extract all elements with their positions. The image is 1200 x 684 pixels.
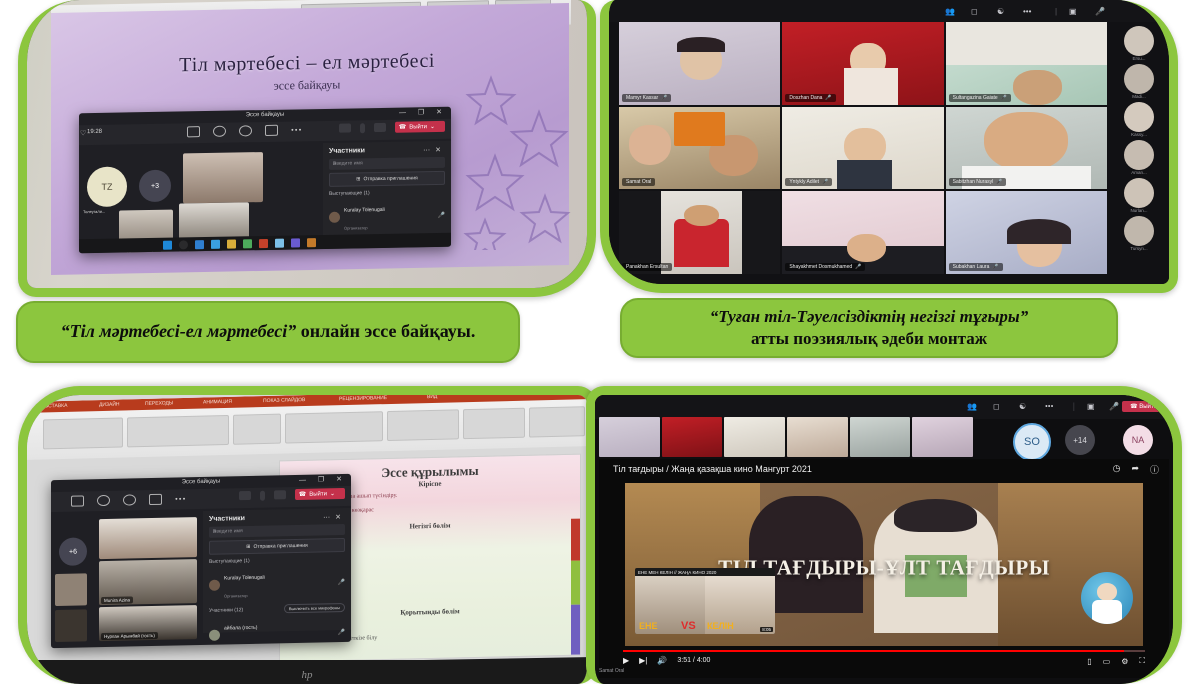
tile-name: Sultangazina Gaiate🎤 [949, 94, 1011, 102]
youtube-video-title: Тіл тағдыры / Жаңа қазақша кино Мангурт … [613, 464, 812, 474]
more-icon[interactable]: ••• [291, 125, 302, 134]
overflow-badge[interactable]: +3 [139, 170, 171, 203]
photo-youtube-film-share: 👥 ◻ ☯ ••• | ▣ 🎤 ▣ ☎ Выйти [586, 386, 1182, 684]
mic-icon: 🎤 [996, 179, 1002, 185]
tile-name: Sabitzhan Nurasyl🎤 [949, 178, 1007, 186]
teams-toolbar-icons[interactable]: ••• [187, 124, 302, 137]
heart-icon: ♡ [80, 129, 86, 137]
mic-icon[interactable]: 🎤 [438, 211, 445, 218]
share-icon[interactable] [274, 490, 286, 499]
mic-icon[interactable]: 🎤 [1095, 7, 1105, 16]
send-invitation-button[interactable]: ⊞ Отправка приглашения [329, 171, 445, 187]
thumbnail-caption: ЕНЕ МЕН КЕЛІН // ЖАҢА КИНО 2020 [638, 570, 716, 575]
mic-icon[interactable] [260, 490, 265, 500]
app-icon[interactable] [259, 238, 268, 247]
subtitles-icon[interactable]: ▯ [1087, 657, 1091, 666]
tile-name: Mamyr Kassar🎤 [622, 94, 671, 102]
section-participants: Участники (12) [209, 607, 243, 614]
tile-name: Doszhan Dana🎤 [785, 94, 835, 102]
hangup-button[interactable]: ☎ Выйти ⌄ [295, 488, 345, 500]
participant-role: Организатор [344, 225, 368, 230]
avatar[interactable] [1124, 216, 1154, 246]
corner-participant-name: Samat Oral [599, 668, 624, 674]
video-tile[interactable]: Shayakhmet Dosmukhamed🎤 [782, 191, 943, 274]
hangup-label: Выйти [1139, 404, 1157, 410]
send-invitation-button[interactable]: ⊞ Отправка приглашения [209, 538, 345, 555]
mic-icon: 🎤 [855, 264, 861, 270]
mic-icon[interactable] [360, 123, 365, 133]
video-tile[interactable] [55, 573, 87, 606]
video-tile[interactable] [850, 417, 911, 457]
invite-icon: ⊞ [246, 544, 250, 550]
more-icon[interactable]: ••• [1045, 402, 1053, 411]
suggested-video-thumbnail[interactable]: ЕНЕ МЕН КЕЛІН // ЖАҢА КИНО 2020 ЕНЕ VS К… [635, 568, 775, 634]
thumbnail-title-a: ЕНЕ [639, 621, 658, 631]
photo-essay-structure-laptop: ВСТАВКА ДИЗАЙН ПЕРЕХОДЫ АНИМАЦИЯ ПОКАЗ С… [18, 386, 596, 684]
settings-icon[interactable]: ⚙ [1121, 657, 1128, 666]
share-screen-icon[interactable] [265, 125, 278, 136]
search-icon[interactable]: ⌕ [333, 159, 441, 168]
caption-essay-contest: “Тіл мәртебесі-ел мәртебесі” онлайн эссе… [16, 301, 520, 363]
miniplayer-icon[interactable]: ▭ [1103, 657, 1111, 666]
ribbon-tab[interactable]: РЕЦЕНЗИРОВАНИЕ [339, 395, 387, 402]
video-grid: Mamyr Kassar🎤 Doszhan Dana🎤 Sultangazina… [619, 22, 1107, 274]
teams-call-controls[interactable]: ☎ Выйти ⌄ [239, 488, 345, 501]
search-icon[interactable] [179, 240, 188, 249]
time-display: 3:51 / 4:00 [677, 657, 710, 664]
hangup-button[interactable]: ☎ Выйти ⌄ [395, 121, 445, 133]
window-controls[interactable]: — ❐ ✕ [299, 475, 347, 484]
participant-name: Kuralay Tolenugali [344, 207, 385, 214]
folder-icon[interactable] [227, 239, 236, 248]
video-tile[interactable] [787, 417, 848, 457]
tile-name: Shayakhmet Dosmukhamed🎤 [785, 263, 865, 271]
photo-poetry-montage-grid: 👥 ◻ ☯ ••• | ▣ 🎤 Mamyr Kassar🎤 Doszhan Da… [600, 0, 1178, 293]
react-icon[interactable] [239, 125, 252, 136]
react-icon[interactable]: ☯ [1019, 402, 1026, 411]
people-icon[interactable] [187, 126, 200, 137]
video-tile[interactable] [662, 417, 723, 457]
participant-search-input[interactable]: Введите имя ⌕ [329, 157, 445, 170]
avatar-name: Толеугали... [83, 209, 105, 214]
photo-essay-contest-projector: Тіл мәртебесі – ел мәртебесі эссе байқау… [18, 0, 596, 297]
tile-name: Yntykly Adilet🎤 [785, 178, 832, 186]
ribbon-tab[interactable]: ВСТАВКА [45, 403, 67, 410]
tile-name: Munira Azina [101, 596, 133, 604]
search-icon[interactable]: ⌕ [213, 526, 341, 536]
start-icon[interactable] [163, 240, 172, 249]
tile-name: Panakhan Ersultan [622, 263, 672, 271]
tile-name: Нурлан Арымбай (гость) [101, 632, 158, 640]
people-icon[interactable] [71, 495, 84, 506]
hangup-label: Выйти [309, 491, 327, 497]
ribbon-tab[interactable]: АНИМАЦИЯ [203, 399, 232, 406]
chat-icon[interactable]: ◻ [993, 402, 1000, 411]
overflow-badge[interactable]: +6 [59, 537, 87, 566]
watch-later-icon[interactable]: ◷ [1113, 463, 1121, 476]
mic-icon: 🎤 [822, 179, 828, 185]
more-icon[interactable]: ••• [1023, 7, 1031, 16]
progress-fill [623, 650, 1124, 652]
invite-icon: ⊞ [356, 176, 360, 182]
rail-name: Nurlan... [1113, 208, 1165, 213]
fullscreen-icon[interactable]: ⛶ [1139, 656, 1145, 666]
app-icon[interactable] [291, 238, 300, 247]
caption-poetry-montage: “Туған тіл-Тәуелсіздіктің негізгі тұғыры… [620, 298, 1118, 358]
rail-name: Kassy... [1113, 132, 1165, 137]
mic-icon: 🎤 [825, 95, 831, 101]
app-icon[interactable] [195, 240, 204, 249]
progress-bar[interactable] [623, 650, 1145, 652]
chat-icon[interactable] [97, 495, 110, 506]
app-icon[interactable] [275, 238, 284, 247]
volume-icon[interactable]: 🔊 [657, 656, 667, 665]
panel-close-icon[interactable]: ⋯✕ [423, 146, 446, 154]
ribbon-tab[interactable]: ВИД [427, 395, 437, 400]
teams-topbar[interactable]: 👥 ◻ ☯ ••• | ▣ 🎤 ▣ ☎ Выйти [595, 395, 1173, 419]
chat-icon[interactable]: ◻ [971, 7, 978, 16]
avatar[interactable]: NA [1123, 425, 1153, 455]
share-icon[interactable]: ➦ [1131, 463, 1139, 476]
overflow-count: +14 [1073, 436, 1087, 445]
camera-icon[interactable]: ▣ [1087, 402, 1095, 411]
caption-quote: “Туған тіл-Тәуелсіздіктің негізгі тұғыры… [710, 307, 1028, 326]
mic-icon: 🎤 [661, 95, 667, 101]
avatar [329, 211, 340, 222]
avatar[interactable] [1124, 140, 1154, 170]
mic-off-icon[interactable]: 🎤 [1109, 402, 1119, 411]
participant-row[interactable]: Kuralay Tolenugali Организатор 🎤 [209, 564, 345, 603]
participant-name: Kuralay Tolenugali [224, 575, 265, 582]
phone-icon: ☎ [1130, 404, 1139, 410]
mic-icon[interactable]: 🎤 [338, 578, 345, 585]
chat-icon[interactable] [213, 126, 226, 137]
camera-icon[interactable] [339, 124, 351, 133]
video-tile[interactable]: Doszhan Dana🎤 [782, 22, 943, 105]
window-controls[interactable]: — ❐ ✕ [399, 108, 447, 117]
people-icon[interactable]: 👥 [967, 402, 977, 411]
ribbon-tab[interactable]: ПЕРЕХОДЫ [145, 400, 173, 407]
rail-name: Aman... [1113, 170, 1165, 175]
video-tile[interactable]: Munira Azina [99, 559, 197, 605]
video-tile[interactable] [912, 417, 973, 457]
avatar-initials: NA [1132, 435, 1145, 445]
avatar [209, 579, 220, 590]
participant-search-input[interactable]: Введите имя ⌕ [209, 524, 345, 538]
meeting-timer: 19:28 [87, 129, 102, 135]
rail-name: Ersu... [1113, 56, 1165, 61]
avatar: TZ [87, 166, 127, 207]
avatar[interactable] [1124, 178, 1154, 208]
teams-call-controls[interactable]: ☎ Выйти ⌄ [339, 121, 445, 134]
avatar[interactable] [1124, 64, 1154, 94]
invite-label: Отправка приглашения [363, 175, 417, 182]
video-tile[interactable]: Нурлан Арымбай (гость) [99, 605, 197, 641]
panel-close-icon[interactable]: ⋯✕ [323, 513, 346, 521]
react-icon[interactable] [123, 494, 136, 505]
video-tile[interactable] [599, 417, 660, 457]
video-frame[interactable]: ТІЛ ТАҒДЫРЫ-ҰЛТ ТАҒДЫРЫ ЕНЕ МЕН КЕЛІН //… [625, 483, 1143, 646]
caption-rest: атты поэзиялық әдеби монтаж [751, 329, 987, 348]
youtube-controls[interactable]: ▶ ▶| 🔊 3:51 / 4:00 ▯ ▭ ⚙ ⛶ [623, 650, 1145, 672]
mic-icon: 🎤 [1001, 95, 1007, 101]
video-tile[interactable]: Panakhan Ersultan [619, 191, 780, 274]
rail-name: Tursyn... [1113, 246, 1165, 251]
avatar[interactable] [1124, 102, 1154, 132]
rail-name: Madi... [1113, 94, 1165, 99]
mute-all-button[interactable]: Выключить все микрофоны [284, 603, 345, 613]
chevron-down-icon[interactable]: ⌄ [330, 490, 335, 497]
mic-icon[interactable]: 🎤 [338, 628, 345, 635]
teams-meeting-window[interactable]: Эссе байқауы — ❐ ✕ ••• ☎ Выйти [51, 474, 351, 648]
camera-icon[interactable] [239, 491, 251, 500]
teams-meeting-window[interactable]: Эссе байқауы — ❐ ✕ ♡ 19:28 ••• [79, 107, 451, 253]
caption-rest: онлайн эссе байқауы. [296, 321, 475, 341]
app-icon[interactable] [243, 239, 252, 248]
video-tile[interactable]: Sultangazina Gaiate🎤 [946, 22, 1107, 105]
participants-panel[interactable]: Участники ⋯✕ Введите имя ⌕ ⊞ Отправка пр… [203, 508, 351, 633]
hangup-button[interactable]: ☎ Выйти [1122, 401, 1165, 412]
app-icon[interactable] [307, 238, 316, 247]
app-icon[interactable] [211, 239, 220, 248]
video-tile[interactable]: Sabitzhan Nurasyl🎤 [946, 107, 1107, 190]
divider: | [1073, 401, 1075, 411]
next-icon[interactable]: ▶| [639, 656, 647, 665]
ribbon-tab[interactable]: ПОКАЗ СЛАЙДОВ [263, 397, 305, 404]
video-tile[interactable]: Samat Oral [619, 107, 780, 190]
playback-buttons[interactable]: ▶ ▶| 🔊 3:51 / 4:00 [623, 656, 710, 665]
video-tile[interactable] [724, 417, 785, 457]
tile-name: Samat Oral [622, 178, 655, 186]
section-speakers: Выступающие (1) [329, 189, 445, 197]
participant-name: айбала (гость) [224, 625, 257, 632]
more-icon[interactable]: ••• [175, 494, 186, 503]
video-tile[interactable] [183, 152, 263, 203]
thumbnail-duration: 8:05 [760, 627, 773, 632]
avatar [209, 629, 220, 640]
info-icon[interactable]: ⓘ [1150, 463, 1159, 476]
play-icon[interactable]: ▶ [623, 656, 629, 665]
video-tile[interactable]: Mamyr Kassar🎤 [619, 22, 780, 105]
video-tile[interactable]: Subakhan Laura🎤 [946, 191, 1107, 274]
share-icon[interactable] [374, 123, 386, 132]
overflow-count: +3 [151, 182, 159, 189]
channel-logo-icon[interactable] [1081, 572, 1133, 624]
thumbnail-title-b: КЕЛІН [707, 621, 734, 631]
hangup-label: Выйти [409, 124, 427, 130]
video-stage: TZ Толеугали... +3 Арукожа Омир... Оразб… [83, 145, 315, 239]
overflow-count: +6 [69, 548, 77, 555]
participants-panel[interactable]: Участники ⋯✕ Введите имя ⌕ ⊞ Отправка пр… [323, 141, 451, 237]
avatar[interactable] [1124, 26, 1154, 56]
participant-row[interactable]: Kuralay Tolenugali Организатор 🎤 [329, 197, 445, 235]
share-screen-icon[interactable] [149, 494, 162, 505]
video-tile[interactable] [55, 609, 87, 642]
divider: | [1055, 7, 1057, 16]
invite-label: Отправка приглашения [253, 543, 307, 550]
phone-icon: ☎ [399, 124, 406, 131]
ribbon-tab[interactable]: ДИЗАЙН [99, 402, 120, 409]
participant-role: Организатор [224, 593, 248, 598]
mic-icon: 🎤 [992, 264, 998, 270]
caption-quote: “Тіл мәртебесі-ел мәртебесі” [61, 321, 297, 341]
player-right-buttons[interactable]: ▯ ▭ ⚙ ⛶ [1087, 656, 1145, 666]
avatar-initials: SO [1024, 436, 1040, 448]
phone-icon: ☎ [299, 491, 306, 498]
participant-strip[interactable] [599, 417, 973, 457]
video-tile[interactable]: Yntykly Adilet🎤 [782, 107, 943, 190]
chevron-down-icon[interactable]: ⌄ [430, 123, 435, 130]
laptop-brand-logo: hp [302, 669, 313, 681]
thumbnail-vs-label: VS [681, 620, 696, 632]
teams-topbar[interactable]: 👥 ◻ ☯ ••• | ▣ 🎤 [609, 0, 1169, 22]
youtube-top-actions[interactable]: ◷ ➦ ⓘ [1113, 463, 1159, 476]
people-icon[interactable]: 👥 [945, 7, 955, 16]
participants-rail[interactable]: Ersu... Madi... Kassy... Aman... Nurlan.… [1113, 24, 1165, 274]
camera-icon[interactable]: ▣ [1069, 7, 1077, 16]
youtube-player[interactable]: Тіл тағдыры / Жаңа қазақша кино Мангурт … [599, 459, 1169, 678]
overflow-badge[interactable]: +14 [1065, 425, 1095, 455]
tile-name: Subakhan Laura🎤 [949, 263, 1003, 271]
react-icon[interactable]: ☯ [997, 7, 1004, 16]
video-tile[interactable] [99, 517, 197, 559]
presentation-slide: Тіл мәртебесі – ел мәртебесі эссе байқау… [0, 0, 1200, 675]
avatar-initials: TZ [102, 182, 113, 192]
avatar[interactable]: SO [1013, 423, 1051, 461]
